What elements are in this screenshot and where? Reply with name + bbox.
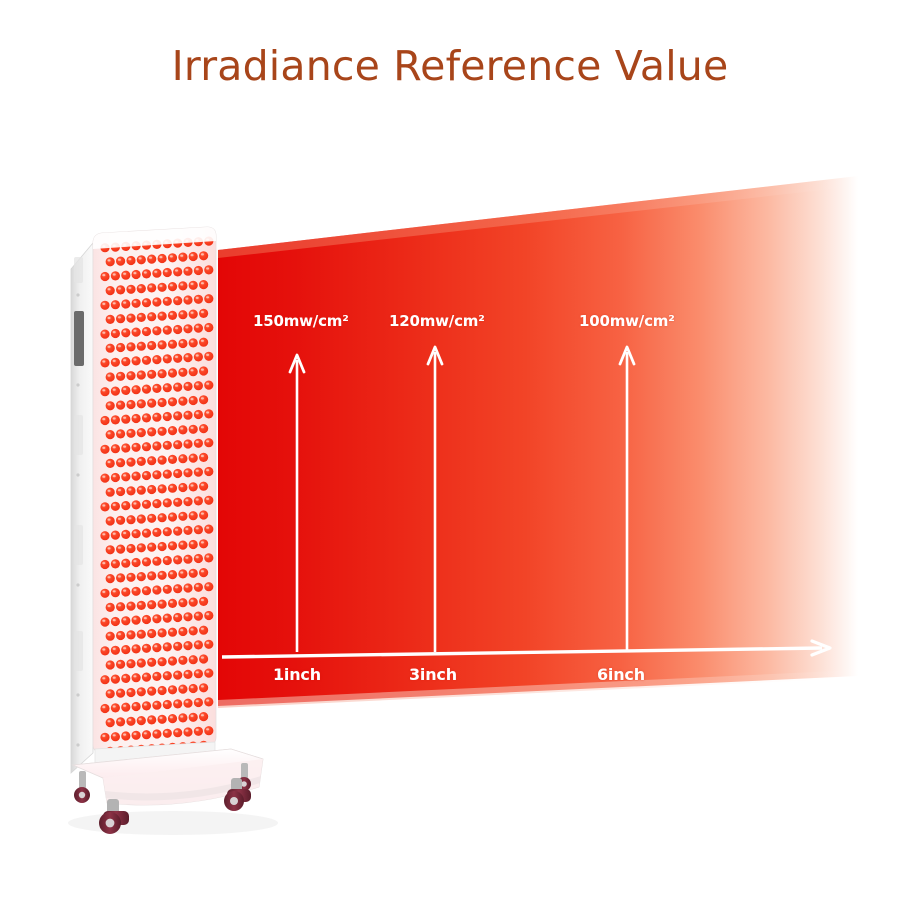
led-dot [189, 482, 198, 491]
led-dot [189, 367, 198, 376]
led-highlight [128, 258, 131, 260]
led-highlight [128, 632, 131, 634]
led-dot [194, 410, 203, 419]
led-dot [142, 673, 151, 682]
led-highlight [118, 431, 121, 433]
led-dot [111, 329, 120, 338]
led-dot [121, 271, 130, 280]
led-dot [183, 324, 192, 333]
led-dot [168, 282, 177, 291]
up-arrow-6inch [620, 347, 634, 651]
led-highlight [123, 705, 126, 707]
led-highlight [206, 296, 209, 298]
led-highlight [108, 346, 111, 348]
led-highlight [165, 414, 168, 416]
led-dot [183, 583, 192, 592]
led-highlight [113, 533, 116, 535]
led-dot [199, 366, 208, 375]
device-illustration [55, 225, 290, 850]
led-highlight [139, 632, 142, 634]
led-highlight [159, 630, 162, 632]
led-dot [126, 659, 135, 668]
led-highlight [133, 704, 136, 706]
led-dot [178, 656, 187, 665]
led-dot [147, 658, 156, 667]
led-dot [189, 569, 198, 578]
led-highlight [128, 373, 131, 375]
led-dot [158, 542, 167, 551]
led-highlight [206, 699, 209, 701]
led-dot [121, 616, 130, 625]
led-highlight [206, 498, 209, 500]
led-highlight [108, 519, 111, 521]
led-dot [158, 513, 167, 522]
led-highlight [206, 325, 209, 327]
led-highlight [108, 461, 111, 463]
led-dot [178, 627, 187, 636]
led-highlight [102, 562, 105, 564]
led-dot [168, 541, 177, 550]
led-dot [132, 500, 141, 509]
led-highlight [206, 584, 209, 586]
led-highlight [180, 485, 183, 487]
led-highlight [113, 705, 116, 707]
led-dot [142, 615, 151, 624]
led-highlight [123, 446, 126, 448]
led-highlight [139, 401, 142, 403]
led-dot [152, 585, 161, 594]
led-highlight [191, 369, 194, 371]
led-highlight [191, 340, 194, 342]
led-highlight [128, 402, 131, 404]
led-highlight [102, 303, 105, 305]
led-highlight [113, 417, 116, 419]
led-highlight [206, 411, 209, 413]
led-dot [111, 675, 120, 684]
led-dot [137, 601, 146, 610]
led-highlight [170, 399, 173, 401]
led-dot [158, 369, 167, 378]
control-display[interactable] [74, 311, 84, 366]
led-dot [147, 283, 156, 292]
led-dot [183, 612, 192, 621]
led-highlight [165, 616, 168, 618]
led-dot [173, 728, 182, 737]
led-highlight [108, 605, 111, 607]
led-highlight [108, 432, 111, 434]
led-highlight [144, 300, 147, 302]
led-highlight [123, 647, 126, 649]
led-dot [194, 381, 203, 390]
led-dot [100, 589, 109, 598]
led-dot [194, 612, 203, 621]
led-dot [183, 411, 192, 420]
distance-label-6inch: 6inch [597, 665, 645, 684]
led-highlight [196, 297, 199, 299]
led-dot [158, 456, 167, 465]
led-dot [158, 571, 167, 580]
led-highlight [180, 427, 183, 429]
led-dot [199, 568, 208, 577]
led-highlight [206, 354, 209, 356]
led-dot [147, 715, 156, 724]
led-highlight [102, 332, 105, 334]
led-dot [152, 499, 161, 508]
led-highlight [159, 486, 162, 488]
led-dot [116, 487, 125, 496]
led-dot [147, 312, 156, 321]
led-dot [163, 614, 172, 623]
led-dot [121, 328, 130, 337]
led-highlight [113, 475, 116, 477]
led-highlight [175, 557, 178, 559]
led-highlight [196, 527, 199, 529]
led-dot [173, 267, 182, 276]
led-highlight [133, 445, 136, 447]
led-highlight [165, 299, 168, 301]
led-dot [173, 469, 182, 478]
led-dot [183, 555, 192, 564]
led-dot [126, 602, 135, 611]
led-dot [132, 328, 141, 337]
led-dot [199, 510, 208, 519]
led-highlight [159, 429, 162, 431]
led-highlight [154, 386, 157, 388]
led-highlight [196, 326, 199, 328]
led-highlight [180, 543, 183, 545]
led-dot [204, 438, 213, 447]
led-highlight [144, 473, 147, 475]
led-highlight [133, 589, 136, 591]
led-highlight [113, 648, 116, 650]
led-highlight [149, 631, 152, 633]
led-dot [158, 657, 167, 666]
led-highlight [175, 529, 178, 531]
led-dot [163, 441, 172, 450]
led-dot [137, 255, 146, 264]
led-highlight [108, 576, 111, 578]
led-highlight [175, 586, 178, 588]
led-dot [152, 701, 161, 710]
led-dot [100, 531, 109, 540]
led-highlight [185, 298, 188, 300]
led-highlight [185, 614, 188, 616]
led-highlight [139, 545, 142, 547]
led-highlight [180, 715, 183, 717]
led-dot [163, 700, 172, 709]
led-dot [173, 354, 182, 363]
led-highlight [165, 443, 168, 445]
led-dot [199, 453, 208, 462]
led-dot [204, 265, 213, 274]
led-highlight [118, 719, 121, 721]
led-dot [152, 614, 161, 623]
led-highlight [154, 732, 157, 734]
led-highlight [185, 442, 188, 444]
led-highlight [180, 283, 183, 285]
led-highlight [175, 269, 178, 271]
led-dot [142, 644, 151, 653]
led-dot [183, 382, 192, 391]
led-highlight [196, 585, 199, 587]
led-highlight [102, 620, 105, 622]
led-dot [173, 383, 182, 392]
led-highlight [133, 416, 136, 418]
led-dot [178, 425, 187, 434]
led-dot [137, 543, 146, 552]
led-dot [147, 370, 156, 379]
led-dot [168, 484, 177, 493]
led-dot [137, 687, 146, 696]
led-dot [189, 511, 198, 520]
led-dot [137, 514, 146, 523]
led-highlight [133, 301, 136, 303]
led-highlight [206, 671, 209, 673]
led-highlight [154, 271, 157, 273]
led-highlight [191, 312, 194, 314]
led-highlight [128, 690, 131, 692]
led-highlight [191, 600, 194, 602]
led-dot [106, 574, 115, 583]
led-dot [111, 387, 120, 396]
led-dot [111, 271, 120, 280]
led-highlight [118, 403, 121, 405]
led-highlight [128, 719, 131, 721]
led-dot [178, 339, 187, 348]
led-highlight [180, 658, 183, 660]
led-highlight [165, 385, 168, 387]
led-highlight [118, 287, 121, 289]
led-highlight [139, 344, 142, 346]
led-dot [173, 642, 182, 651]
led-highlight [144, 703, 147, 705]
led-dot [132, 558, 141, 567]
led-highlight [165, 644, 168, 646]
led-dot [116, 458, 125, 467]
led-dot [126, 458, 135, 467]
led-highlight [201, 282, 204, 284]
led-dot [163, 383, 172, 392]
led-dot [147, 456, 156, 465]
led-highlight [196, 671, 199, 673]
led-dot [116, 401, 125, 410]
led-highlight [201, 311, 204, 313]
led-highlight [159, 256, 162, 258]
led-dot [126, 515, 135, 524]
led-dot [194, 640, 203, 649]
led-highlight [108, 375, 111, 377]
led-dot [106, 344, 115, 353]
led-dot [178, 368, 187, 377]
led-dot [168, 628, 177, 637]
led-highlight [159, 342, 162, 344]
led-highlight [128, 488, 131, 490]
led-dot [183, 497, 192, 506]
led-highlight [159, 400, 162, 402]
led-dot [152, 355, 161, 364]
led-highlight [102, 706, 105, 708]
led-dot [189, 338, 198, 347]
led-highlight [113, 273, 116, 275]
led-highlight [133, 474, 136, 476]
led-dot [137, 716, 146, 725]
led-highlight [149, 314, 152, 316]
led-highlight [154, 472, 157, 474]
led-highlight [165, 587, 168, 589]
led-highlight [154, 616, 157, 618]
led-highlight [149, 689, 152, 691]
led-dot [168, 311, 177, 320]
led-dot [183, 670, 192, 679]
led-highlight [180, 514, 183, 516]
x-axis-arrow-right [222, 641, 830, 657]
led-highlight [144, 502, 147, 504]
led-highlight [133, 618, 136, 620]
led-dot [189, 252, 198, 261]
led-dot [111, 732, 120, 741]
led-dot [121, 357, 130, 366]
led-dot [173, 555, 182, 564]
led-highlight [185, 413, 188, 415]
led-dot [194, 698, 203, 707]
led-dot [106, 401, 115, 410]
led-dot [132, 356, 141, 365]
led-dot [132, 385, 141, 394]
led-dot [173, 411, 182, 420]
led-dot [152, 269, 161, 278]
led-highlight [149, 573, 152, 575]
led-dot [168, 570, 177, 579]
led-highlight [113, 561, 116, 563]
led-highlight [191, 456, 194, 458]
led-highlight [154, 328, 157, 330]
led-dot [111, 502, 120, 511]
led-dot [142, 298, 151, 307]
led-dot [204, 352, 213, 361]
led-highlight [196, 441, 199, 443]
led-highlight [201, 685, 204, 687]
led-dot [178, 598, 187, 607]
led-dot [173, 584, 182, 593]
led-highlight [102, 591, 105, 593]
led-highlight [108, 634, 111, 636]
led-highlight [139, 430, 142, 432]
led-dot [121, 731, 130, 740]
led-highlight [175, 615, 178, 617]
led-highlight [149, 343, 152, 345]
led-highlight [159, 602, 162, 604]
led-highlight [201, 397, 204, 399]
led-highlight [144, 588, 147, 590]
led-highlight [165, 529, 168, 531]
led-dot [147, 629, 156, 638]
led-highlight [139, 603, 142, 605]
led-dot [152, 470, 161, 479]
led-highlight [170, 255, 173, 257]
led-highlight [144, 387, 147, 389]
led-highlight [108, 691, 111, 693]
led-dot [158, 283, 167, 292]
led-highlight [154, 415, 157, 417]
led-highlight [170, 630, 173, 632]
led-dot [121, 472, 130, 481]
led-highlight [139, 661, 142, 663]
led-highlight [128, 546, 131, 548]
led-dot [204, 409, 213, 418]
led-highlight [180, 456, 183, 458]
irradiance-label-3inch: 120mw/cm² [389, 312, 485, 330]
led-highlight [113, 590, 116, 592]
led-dot [111, 444, 120, 453]
led-highlight [206, 728, 209, 730]
page-title: Irradiance Reference Value [0, 42, 900, 90]
led-highlight [191, 398, 194, 400]
led-dot [158, 715, 167, 724]
led-dot [189, 684, 198, 693]
led-dot [126, 314, 135, 323]
led-dot [132, 673, 141, 682]
led-highlight [191, 427, 194, 429]
led-highlight [159, 717, 162, 719]
led-highlight [201, 253, 204, 255]
led-dot [111, 300, 120, 309]
led-highlight [113, 389, 116, 391]
led-dot [142, 471, 151, 480]
led-highlight [139, 718, 142, 720]
led-dot [163, 470, 172, 479]
led-dot [121, 674, 130, 683]
led-highlight [201, 484, 204, 486]
led-dot [137, 313, 146, 322]
led-highlight [191, 571, 194, 573]
led-highlight [144, 531, 147, 533]
led-dot [111, 588, 120, 597]
led-highlight [149, 429, 152, 431]
led-highlight [118, 345, 121, 347]
led-dot [137, 342, 146, 351]
led-highlight [185, 586, 188, 588]
led-dot [173, 440, 182, 449]
led-highlight [185, 470, 188, 472]
led-highlight [170, 716, 173, 718]
led-highlight [206, 469, 209, 471]
led-highlight [165, 702, 168, 704]
led-dot [194, 669, 203, 678]
led-highlight [123, 561, 126, 563]
led-dot [189, 655, 198, 664]
led-dot [158, 312, 167, 321]
led-highlight [175, 701, 178, 703]
led-dot [173, 527, 182, 536]
led-dot [106, 257, 115, 266]
led-dot [178, 397, 187, 406]
led-highlight [170, 284, 173, 286]
led-highlight [196, 700, 199, 702]
led-dot [106, 516, 115, 525]
led-highlight [149, 545, 152, 547]
led-dot [204, 381, 213, 390]
led-highlight [206, 555, 209, 557]
led-dot [142, 442, 151, 451]
led-dot [137, 572, 146, 581]
led-dot [199, 395, 208, 404]
led-dot [116, 631, 125, 640]
led-dot [126, 688, 135, 697]
led-dot [199, 309, 208, 318]
led-highlight [118, 547, 121, 549]
led-dot [137, 486, 146, 495]
led-dot [199, 683, 208, 692]
